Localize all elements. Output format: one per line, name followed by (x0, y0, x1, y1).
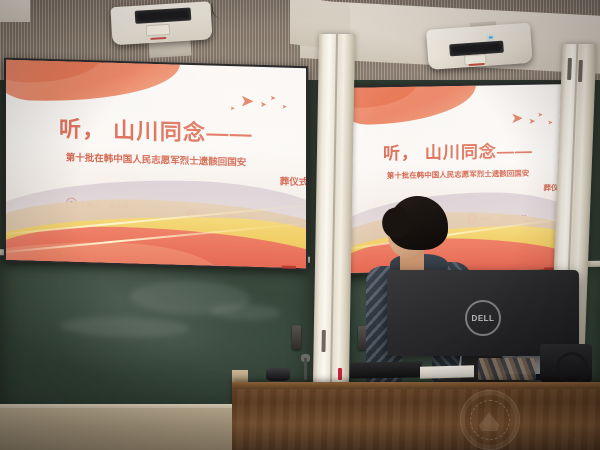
wall-mounted-device-icon (292, 325, 301, 349)
paper-stack (232, 370, 248, 382)
speaker-puck[interactable] (266, 368, 290, 381)
chalk-smudge (60, 316, 190, 339)
desk-microphone-stand (304, 358, 307, 380)
red-marker[interactable] (338, 368, 342, 380)
projector-body (426, 23, 533, 70)
ceiling-left-edge (0, 0, 30, 22)
cable-clutter (478, 358, 536, 380)
ceiling-projector-left-icon (110, 1, 221, 63)
projector-body (110, 1, 212, 45)
ceiling-projector-right-icon (426, 22, 542, 88)
slide-subtitle-line1: 第十批在韩中国人民志愿军烈士遗骸回国安 (348, 167, 568, 182)
pillar-slot (578, 60, 583, 82)
wooden-lectern (232, 382, 600, 450)
center-pillar (313, 34, 355, 382)
slide-title: 听， 山川同念—— (348, 136, 568, 165)
cable-coil (556, 352, 588, 384)
keyboard[interactable] (420, 365, 474, 378)
slide-canvas-left: ➤ ➤ ➤ ➤ ➤ 听， 山川同念—— 第十批在韩中国人民志愿军烈士遗骸回国安 … (6, 60, 306, 268)
pillar-slot (567, 58, 572, 80)
black-control-box[interactable] (350, 361, 422, 378)
university-seal-emblem (460, 390, 520, 450)
pillar-slot (321, 330, 325, 352)
projector-lens-icon (135, 7, 192, 23)
projector-panel (146, 24, 171, 36)
left-projection-screen[interactable]: ➤ ➤ ➤ ➤ ➤ 听， 山川同念—— 第十批在韩中国人民志愿军烈士遗骸回国安 … (4, 58, 308, 270)
slide-title: 听， 山川同念—— (6, 110, 306, 150)
projector-brand-mark (469, 63, 485, 66)
lecture-hall-photo: ➤ ➤ ➤ ➤ ➤ 听， 山川同念—— 第十批在韩中国人民志愿军烈士遗骸回国安 … (0, 0, 600, 450)
chalk-smudge (210, 303, 280, 321)
power-led-icon (489, 36, 493, 38)
projector-brand-mark (150, 37, 166, 40)
projector-cable (211, 2, 227, 19)
screen-status-led-icon (282, 266, 296, 269)
floor (0, 408, 232, 450)
emblem-core-mark (479, 411, 501, 431)
lectern-top-edge (232, 382, 600, 389)
dell-logo-icon: DELL (465, 300, 501, 336)
